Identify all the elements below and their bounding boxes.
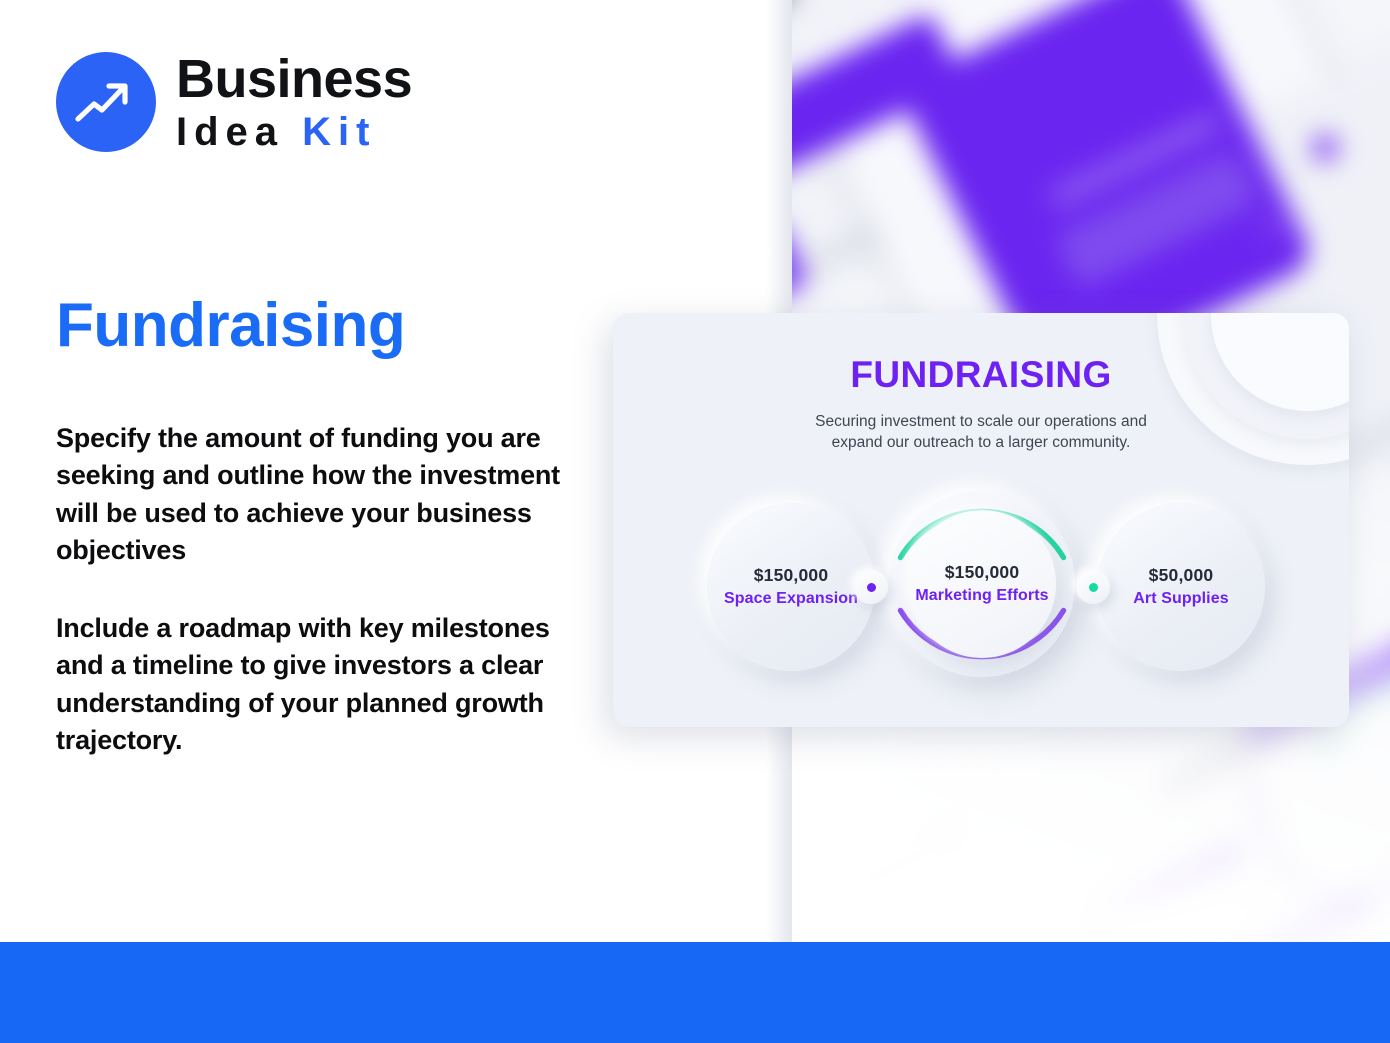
brand-name-kit: Kit bbox=[302, 110, 376, 154]
green-dot-icon bbox=[1089, 583, 1098, 592]
slide-page: Business Idea Kit Fundraising Specify th… bbox=[0, 0, 1390, 1043]
funding-item-space-expansion[interactable]: $150,000 Space Expansion bbox=[707, 503, 875, 671]
page-title: Fundraising bbox=[56, 295, 405, 357]
brand-name-line-2: Idea Kit bbox=[176, 112, 412, 152]
right-connector-dot bbox=[1076, 570, 1110, 604]
funding-label: Space Expansion bbox=[724, 589, 858, 610]
growth-arrow-icon bbox=[56, 52, 156, 152]
body-paragraph-1: Specify the amount of funding you are se… bbox=[56, 420, 566, 569]
footer-bar bbox=[0, 942, 1390, 1043]
center-circle-inner: $150,000 Marketing Efforts bbox=[908, 510, 1056, 658]
brand-name-idea: Idea bbox=[176, 110, 302, 154]
funding-label: Marketing Efforts bbox=[915, 586, 1048, 607]
funding-amount: $150,000 bbox=[754, 565, 829, 587]
left-connector-dot bbox=[854, 570, 888, 604]
mock-dot bbox=[1264, 218, 1282, 236]
mock-dot bbox=[1312, 135, 1338, 161]
brand-name-business: Business bbox=[176, 49, 412, 109]
card-title: FUNDRAISING bbox=[613, 354, 1349, 396]
funding-label: Art Supplies bbox=[1133, 589, 1228, 610]
funding-item-marketing-efforts[interactable]: $150,000 Marketing Efforts bbox=[877, 467, 1087, 707]
funding-amount: $50,000 bbox=[1149, 565, 1214, 587]
brand-name-line-1: Business bbox=[176, 52, 412, 106]
funding-amount: $150,000 bbox=[945, 562, 1020, 584]
brand-wordmark: Business Idea Kit bbox=[176, 52, 412, 152]
purple-dot-icon bbox=[867, 583, 876, 592]
fundraising-slide-card: FUNDRAISING Securing investment to scale… bbox=[613, 313, 1349, 727]
funding-item-art-supplies[interactable]: $50,000 Art Supplies bbox=[1097, 503, 1265, 671]
card-subtitle: Securing investment to scale our operati… bbox=[771, 411, 1191, 454]
funding-allocation-diagram: $150,000 Space Expansion $150,000 Market… bbox=[613, 491, 1349, 701]
brand-logo: Business Idea Kit bbox=[56, 52, 412, 152]
body-paragraph-2: Include a roadmap with key milestones an… bbox=[56, 610, 566, 759]
